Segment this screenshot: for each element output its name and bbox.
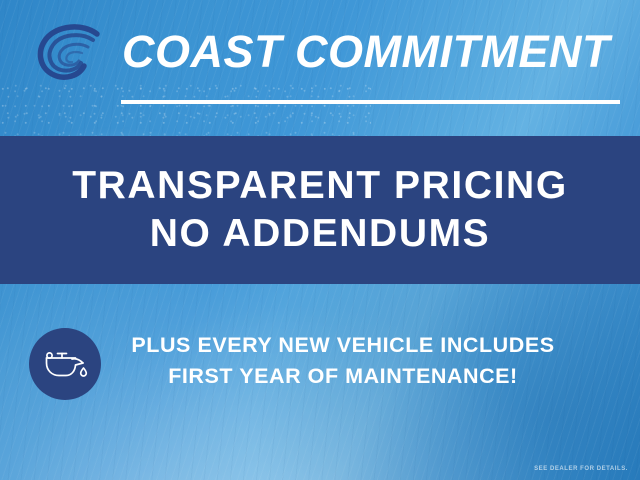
maintenance-offer-row: PLUS EVERY NEW VEHICLE INCLUDES FIRST YE…	[0, 316, 640, 420]
maintenance-offer-line-1: PLUS EVERY NEW VEHICLE INCLUDES	[108, 330, 578, 361]
pricing-headline-banner: TRANSPARENT PRICING NO ADDENDUMS	[0, 136, 640, 284]
maintenance-offer-text: PLUS EVERY NEW VEHICLE INCLUDES FIRST YE…	[108, 330, 578, 391]
coast-wave-logo-icon	[34, 22, 106, 88]
page-title: COAST COMMITMENT	[122, 18, 622, 84]
disclaimer-text: SEE DEALER FOR DETAILS.	[534, 466, 628, 472]
banner-header: COAST COMMITMENT	[0, 0, 640, 136]
oil-can-icon	[29, 328, 101, 400]
coast-commitment-banner: COAST COMMITMENT TRANSPARENT PRICING NO …	[0, 0, 640, 480]
header-divider-rule	[121, 100, 620, 104]
maintenance-offer-line-2: FIRST YEAR OF MAINTENANCE!	[108, 361, 578, 392]
pricing-headline-line-1: TRANSPARENT PRICING	[72, 163, 568, 209]
pricing-headline-line-2: NO ADDENDUMS	[150, 211, 491, 257]
